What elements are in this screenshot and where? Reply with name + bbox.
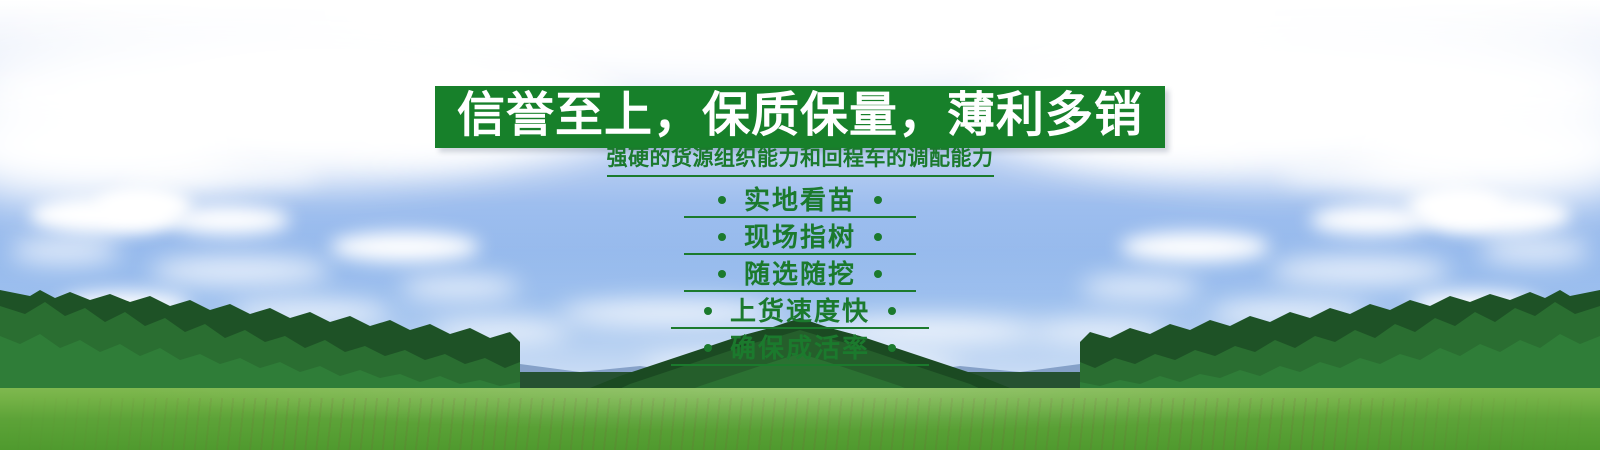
feature-item-1: 实地看苗: [684, 181, 916, 218]
promo-banner: 信誉至上，保质保量，薄利多销 强硬的货源组织能力和回程车的调配能力 实地看苗 现…: [0, 0, 1600, 450]
subtitle-text: 强硬的货源组织能力和回程车的调配能力: [607, 146, 994, 177]
feature-label: 现场指树: [744, 222, 856, 252]
bullet-dot-left-icon: [718, 233, 726, 241]
bullet-dot-right-icon: [888, 344, 896, 352]
feature-underline: [671, 364, 929, 366]
feature-item-4: 上货速度快: [671, 292, 929, 329]
feature-label: 随选随挖: [744, 259, 856, 289]
headline-wrapper: 信誉至上，保质保量，薄利多销: [0, 86, 1600, 148]
subtitle-wrapper: 强硬的货源组织能力和回程车的调配能力: [0, 146, 1600, 177]
bullet-dot-right-icon: [888, 307, 896, 315]
feature-item-2: 现场指树: [684, 218, 916, 255]
feature-item-3: 随选随挖: [684, 255, 916, 292]
bullet-dot-right-icon: [874, 233, 882, 241]
bullet-dot-right-icon: [874, 196, 882, 204]
field-highlight: [0, 388, 1600, 450]
feature-list: 实地看苗 现场指树 随选随挖 上货速度快: [0, 181, 1600, 366]
headline-text: 信誉至上，保质保量，薄利多销: [435, 86, 1165, 148]
bullet-dot-left-icon: [718, 196, 726, 204]
bullet-dot-left-icon: [718, 270, 726, 278]
bullet-dot-left-icon: [704, 307, 712, 315]
feature-label: 上货速度快: [730, 296, 870, 326]
feature-item-5: 确保成活率: [671, 329, 929, 366]
bullet-dot-left-icon: [704, 344, 712, 352]
feature-label: 实地看苗: [744, 185, 856, 215]
bullet-dot-right-icon: [874, 270, 882, 278]
feature-label: 确保成活率: [730, 333, 870, 363]
